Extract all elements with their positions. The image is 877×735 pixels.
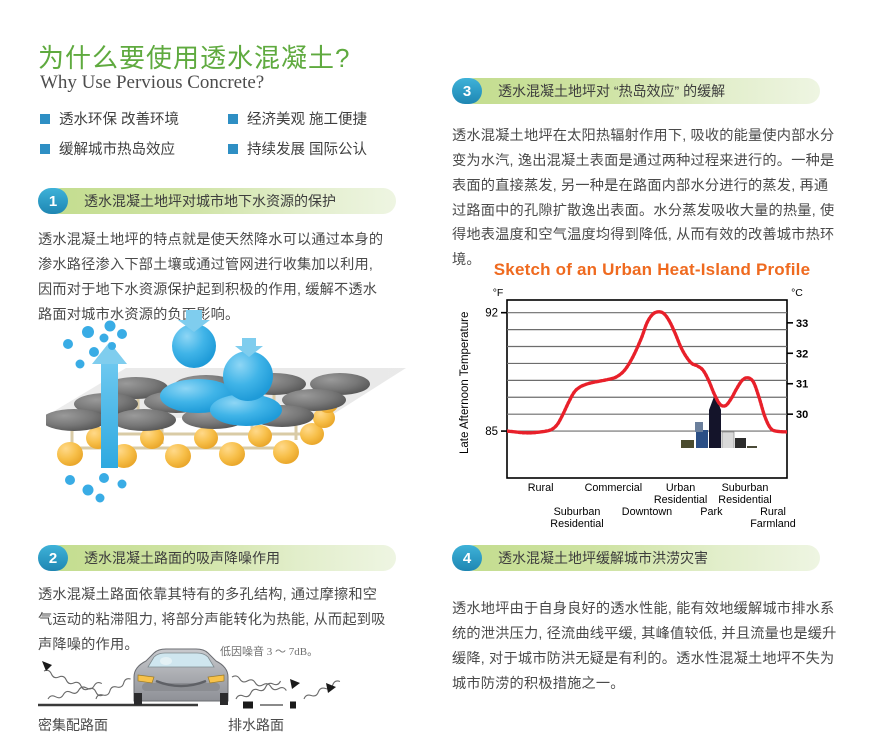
section-4: 4 透水混凝土地坪缓解城市洪涝灾害 透水地坪由于自身良好的透水性能, 能有效地缓… xyxy=(452,545,852,696)
list-item: 缓解城市热岛效应 xyxy=(40,138,228,159)
y-axis-right-unit: °C xyxy=(791,287,803,299)
bullet-label: 经济美观 施工便捷 xyxy=(247,108,367,129)
section-1: 1 透水混凝土地坪对城市地下水资源的保护 透水混凝土地坪的特点就是使天然降水可以… xyxy=(38,188,428,327)
page-title-cn: 为什么要使用透水混凝土? xyxy=(38,38,350,75)
section-title: 透水混凝土地坪对城市地下水资源的保护 xyxy=(84,188,336,214)
windshield xyxy=(148,653,214,667)
svg-text:Urban: Urban xyxy=(666,482,695,494)
section-2-header: 2 透水混凝土路面的吸声降噪作用 xyxy=(38,545,428,571)
y-axis-title: Late Afternoon Temperature xyxy=(459,312,471,454)
poster-page: 为什么要使用透水混凝土? Why Use Pervious Concrete? … xyxy=(0,0,877,735)
svg-text:85: 85 xyxy=(485,426,498,438)
noise-reduction-illustration: 低因噪音 3 ～ 7dB。 密集配路面 排水路面 xyxy=(38,643,408,733)
right-column: 3 透水混凝土地坪对 “热岛效应” 的缓解 透水混凝土地坪在太阳热辐射作用下, … xyxy=(452,0,852,735)
square-bullet-icon xyxy=(40,144,50,154)
arrow-head-icon xyxy=(326,683,336,693)
section-2: 2 透水混凝土路面的吸声降噪作用 透水混凝土路面依靠其特有的多孔结构, 通过摩擦… xyxy=(38,545,428,658)
urban-heat-island-chart: Sketch of an Urban Heat-Island Profile °… xyxy=(452,260,852,525)
section-3-header: 3 透水混凝土地坪对 “热岛效应” 的缓解 xyxy=(452,78,852,104)
right-tick-marks xyxy=(787,323,793,414)
svg-text:Downtown: Downtown xyxy=(622,506,672,518)
square-bullet-icon xyxy=(40,114,50,124)
bullet-label: 持续发展 国际公认 xyxy=(247,138,367,159)
square-bullet-icon xyxy=(228,144,238,154)
svg-text:92: 92 xyxy=(485,308,498,320)
svg-text:Commercial: Commercial xyxy=(585,482,643,494)
section-number-badge: 2 xyxy=(38,545,68,571)
svg-text:Suburban: Suburban xyxy=(722,482,769,494)
svg-text:31: 31 xyxy=(796,379,808,391)
section-title: 透水混凝土路面的吸声降噪作用 xyxy=(84,545,280,571)
page-title-en: Why Use Pervious Concrete? xyxy=(40,72,264,94)
svg-text:33: 33 xyxy=(796,318,808,330)
sound-wave-absorbed xyxy=(232,675,341,701)
pervious-concrete-illustration xyxy=(46,308,406,508)
y-axis-left-ticks: 9285 xyxy=(485,308,498,438)
sound-wave-reflected xyxy=(43,669,131,701)
section-number-badge: 3 xyxy=(452,78,482,104)
section-1-header: 1 透水混凝土地坪对城市地下水资源的保护 xyxy=(38,188,428,214)
x-axis-labels-lower: SuburbanResidentialDowntownParkRuralFarm… xyxy=(550,506,796,530)
car-icon xyxy=(134,649,228,705)
chart-title: Sketch of an Urban Heat-Island Profile xyxy=(452,260,852,280)
section-title: 透水混凝土地坪对 “热岛效应” 的缓解 xyxy=(498,78,725,104)
noise-reduction-note: 低因噪音 3 ～ 7dB。 xyxy=(220,643,318,659)
y-axis-right-ticks: 33323130 xyxy=(796,318,808,421)
y-axis-left-unit: °F xyxy=(493,287,504,299)
list-item: 透水环保 改善环境 xyxy=(40,108,228,129)
svg-text:Park: Park xyxy=(700,506,723,518)
bullet-label: 缓解城市热岛效应 xyxy=(59,138,175,159)
x-axis-labels-upper: RuralCommercialUrbanResidentialSuburbanR… xyxy=(528,482,772,506)
svg-text:30: 30 xyxy=(796,409,808,421)
square-bullet-icon xyxy=(228,114,238,124)
water-droplet xyxy=(223,351,273,401)
svg-text:32: 32 xyxy=(796,348,808,360)
dense-pavement-label: 密集配路面 xyxy=(38,715,108,735)
arrow-head-icon xyxy=(290,679,300,689)
svg-text:Rural: Rural xyxy=(760,506,786,518)
left-tick-marks xyxy=(501,313,507,431)
chart-plot-area: °F °C Late Afternoon Temperature 9285 33… xyxy=(452,282,852,518)
feature-bullet-list: 透水环保 改善环境 经济美观 施工便捷 缓解城市热岛效应 持续发展 国际公认 xyxy=(40,108,400,159)
svg-text:Farmland: Farmland xyxy=(750,518,796,530)
drainage-pavement-label: 排水路面 xyxy=(228,715,284,735)
section-number-badge: 4 xyxy=(452,545,482,571)
infiltration-bubbles xyxy=(65,473,127,503)
section-body-text: 透水混凝土地坪在太阳热辐射作用下, 吸收的能量使内部水分变为水汽, 逸出混凝土表… xyxy=(452,124,842,273)
list-item: 持续发展 国际公认 xyxy=(228,138,400,159)
left-column: 为什么要使用透水混凝土? Why Use Pervious Concrete? … xyxy=(38,0,428,735)
svg-text:Residential: Residential xyxy=(654,494,707,506)
svg-text:Rural: Rural xyxy=(528,482,554,494)
section-3: 3 透水混凝土地坪对 “热岛效应” 的缓解 透水混凝土地坪在太阳热辐射作用下, … xyxy=(452,78,852,273)
section-title: 透水混凝土地坪缓解城市洪涝灾害 xyxy=(498,545,708,571)
svg-text:Residential: Residential xyxy=(550,518,603,530)
svg-text:Suburban: Suburban xyxy=(554,506,601,518)
arrow-head-icon xyxy=(42,661,52,671)
svg-text:Residential: Residential xyxy=(718,494,771,506)
bullet-label: 透水环保 改善环境 xyxy=(59,108,179,129)
section-4-header: 4 透水混凝土地坪缓解城市洪涝灾害 xyxy=(452,545,852,571)
section-body-text: 透水地坪由于自身良好的透水性能, 能有效地缓解城市排水系统的泄洪压力, 径流曲线… xyxy=(452,597,842,696)
section-number-badge: 1 xyxy=(38,188,68,214)
list-item: 经济美观 施工便捷 xyxy=(228,108,400,129)
